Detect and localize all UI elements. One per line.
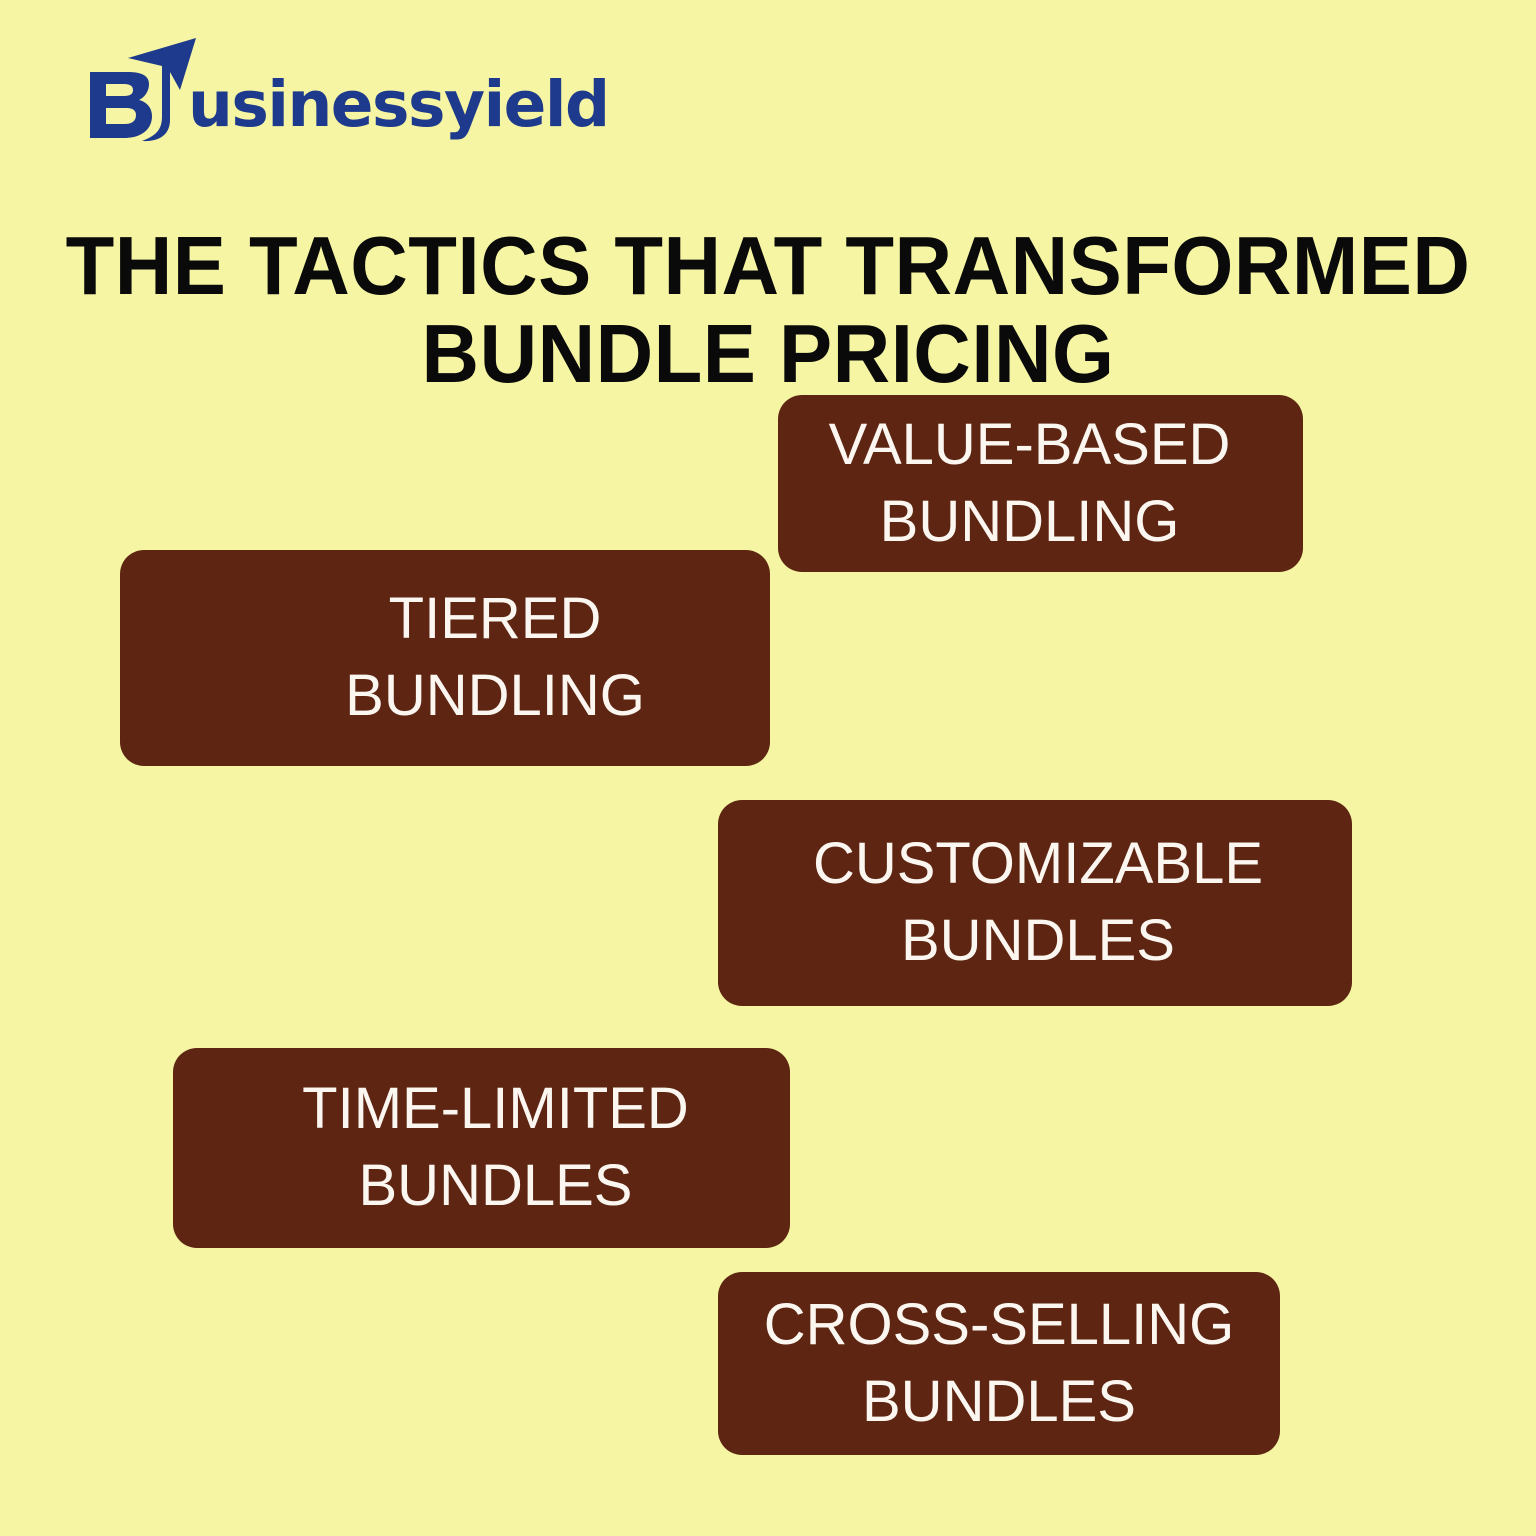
tactic-label-line-1: VALUE-BASED: [829, 412, 1231, 477]
infographic-canvas: usinessyield THE TACTICS THAT TRANSFORME…: [0, 0, 1536, 1536]
logo-wordmark-text: usinessyield: [188, 68, 609, 141]
tactic-label-line-2: BUNDLES: [359, 1153, 633, 1218]
tactic-label-line-2: BUNDLING: [880, 489, 1180, 554]
tactic-card-label: CROSS-SELLING BUNDLES: [738, 1287, 1260, 1440]
tactic-card-cross-selling-bundles[interactable]: CROSS-SELLING BUNDLES: [718, 1272, 1280, 1455]
logo-wordmark: usinessyield: [188, 73, 609, 136]
businessyield-logo[interactable]: usinessyield: [84, 34, 504, 142]
tactic-card-label: TIERED BUNDLING: [148, 581, 742, 734]
page-title-line-2: BUNDLE PRICING: [31, 310, 1506, 398]
tactic-card-tiered-bundling[interactable]: TIERED BUNDLING: [120, 550, 770, 766]
tactic-card-customizable-bundles[interactable]: CUSTOMIZABLE BUNDLES: [718, 800, 1352, 1006]
tactic-label-line-1: TIME-LIMITED: [302, 1076, 689, 1141]
tactic-label-line-1: CROSS-SELLING: [764, 1292, 1235, 1357]
tactic-label-line-1: TIERED: [389, 586, 602, 651]
tactic-card-label: TIME-LIMITED BUNDLES: [173, 1071, 738, 1224]
tactic-label-line-2: BUNDLES: [901, 908, 1175, 973]
tactic-card-label: CUSTOMIZABLE BUNDLES: [764, 826, 1352, 979]
tactic-card-value-based-bundling[interactable]: VALUE-BASED BUNDLING: [778, 395, 1303, 572]
page-title-line-1: THE TACTICS THAT TRANSFORMED: [31, 222, 1506, 310]
tactic-card-label: VALUE-BASED BUNDLING: [778, 407, 1285, 560]
tactic-label-line-2: BUNDLING: [345, 663, 645, 728]
tactic-label-line-2: BUNDLES: [862, 1369, 1136, 1434]
tactic-label-line-1: CUSTOMIZABLE: [813, 831, 1263, 896]
page-title: THE TACTICS THAT TRANSFORMED BUNDLE PRIC…: [31, 222, 1506, 398]
tactic-card-time-limited-bundles[interactable]: TIME-LIMITED BUNDLES: [173, 1048, 790, 1248]
